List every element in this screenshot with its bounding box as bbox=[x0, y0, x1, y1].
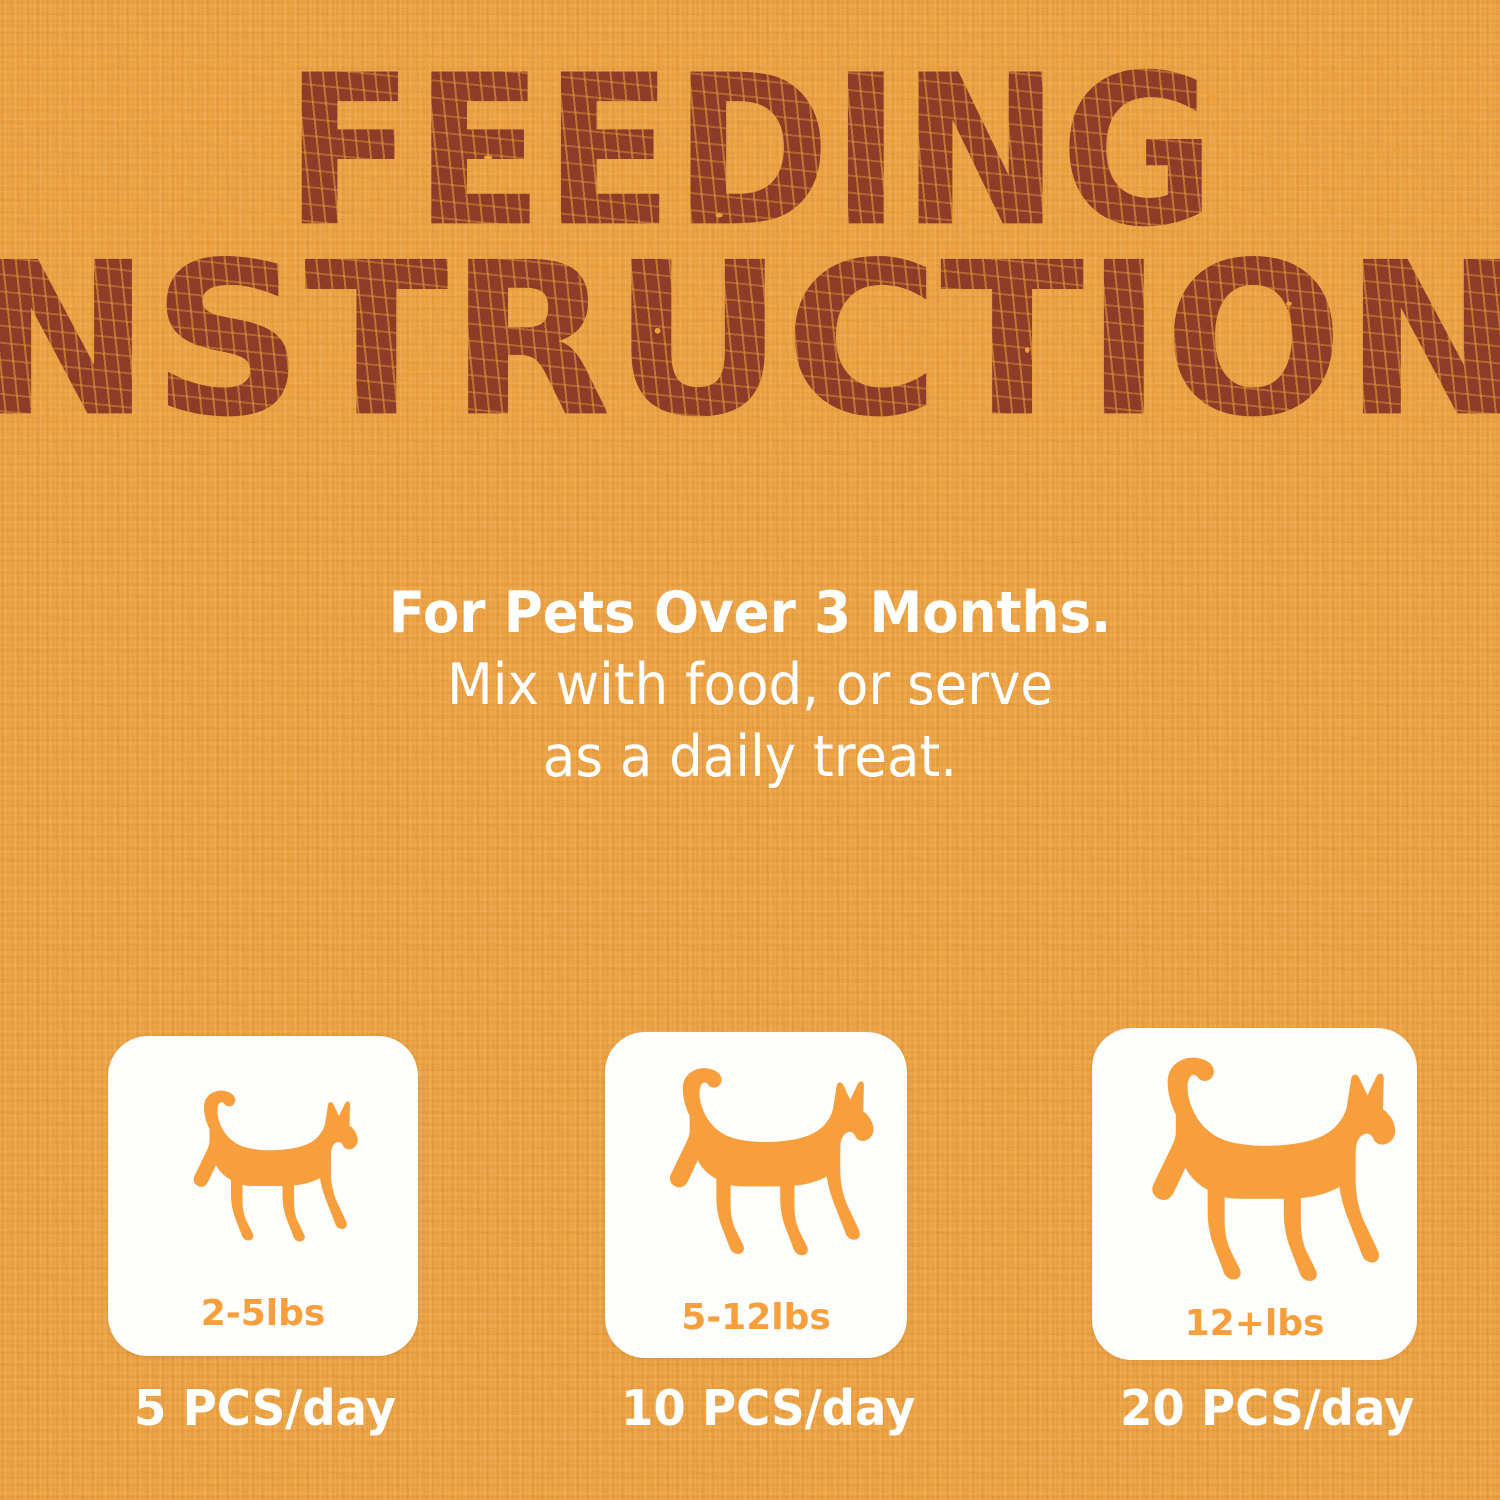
cat-walking-large-icon bbox=[1092, 1036, 1417, 1295]
size-card-medium[interactable]: 5-12lbs bbox=[605, 1032, 907, 1358]
feeding-size-cards-row: 2-5lbs 5-12lbs 12+lbs bbox=[0, 1028, 1500, 1358]
size-card-medium-label: 5-12lbs bbox=[605, 1297, 907, 1338]
headline-block: FEEDING INSTRUCTIONS bbox=[0, 52, 1500, 417]
subtitle-line-2: Mix with food, or serve bbox=[53, 652, 1448, 718]
subtitle-line-3: as a daily treat. bbox=[53, 724, 1448, 790]
size-card-small[interactable]: 2-5lbs bbox=[108, 1036, 418, 1356]
dosage-caption-large: 20 PCS/day bbox=[1120, 1380, 1414, 1437]
dosage-captions-row: 5 PCS/day 10 PCS/day 20 PCS/day bbox=[0, 1378, 1500, 1448]
headline-line-2: INSTRUCTIONS bbox=[0, 239, 1500, 443]
cat-walking-small-icon bbox=[108, 1076, 418, 1251]
dosage-caption-medium: 10 PCS/day bbox=[621, 1380, 915, 1437]
size-card-large[interactable]: 12+lbs bbox=[1092, 1028, 1417, 1360]
dosage-caption-small: 5 PCS/day bbox=[134, 1380, 396, 1437]
size-card-large-label: 12+lbs bbox=[1092, 1303, 1417, 1344]
cat-walking-medium-icon bbox=[605, 1050, 907, 1267]
feeding-instructions-poster: FEEDING INSTRUCTIONS For Pets Over 3 Mon… bbox=[0, 0, 1500, 1500]
size-card-small-label: 2-5lbs bbox=[108, 1293, 418, 1334]
subtitle-block: For Pets Over 3 Months. Mix with food, o… bbox=[0, 580, 1500, 790]
subtitle-line-1: For Pets Over 3 Months. bbox=[53, 580, 1448, 646]
